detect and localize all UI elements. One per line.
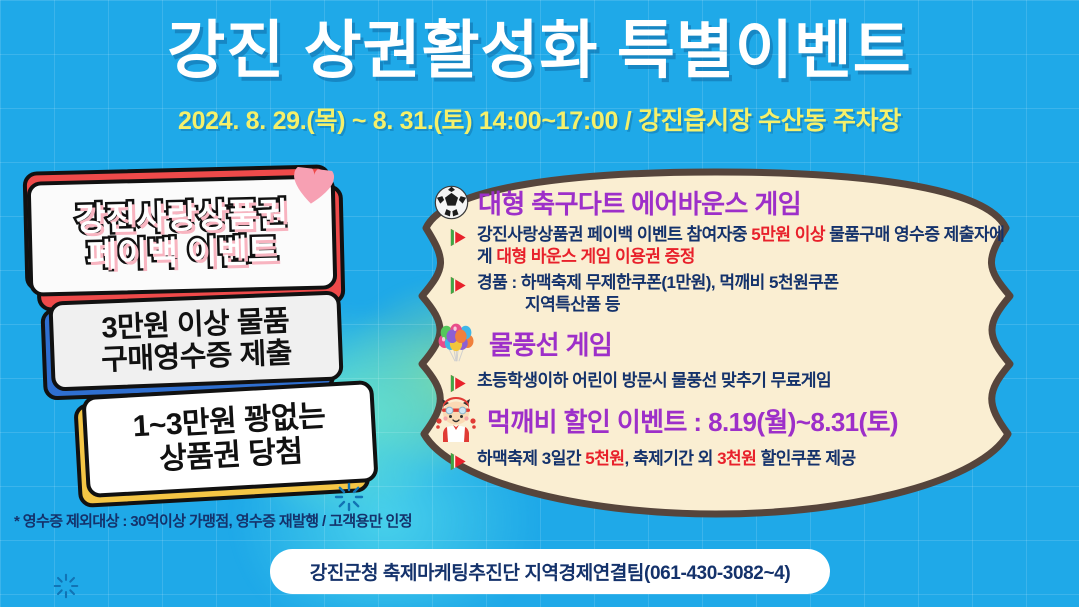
watermelon-bullet-icon <box>448 227 469 248</box>
bullet-item: 초등학생이하 어린이 방문시 물풍선 맞추기 무료게임 <box>448 370 1014 394</box>
bullet-item: 경품 : 하맥축제 무제한쿠폰(1만원), 먹깨비 5천원쿠폰지역특산품 등 <box>448 272 1014 317</box>
section-title: 먹깨비 할인 이벤트 : 8.19(월)~8.31(토) <box>487 402 898 439</box>
balloons-icon <box>434 321 480 367</box>
watermelon-bullet-icon <box>448 451 469 472</box>
sparkle-icon <box>53 573 79 599</box>
payback-event-card: 강진사랑상품권 페이백 이벤트 <box>27 174 338 296</box>
section-title: 물풍선 게임 <box>489 325 612 362</box>
payback-card-line-1: 강진사랑상품권 <box>75 196 288 237</box>
event-details-cloud: 대형 축구다트 에어바운스 게임 강진사랑상품권 페이백 이벤트 참여자중 5만… <box>386 168 1046 518</box>
bullet-text: 경품 : 하맥축제 무제한쿠폰(1만원), 먹깨비 5천원쿠폰지역특산품 등 <box>477 272 839 317</box>
bullet-text: 초등학생이하 어린이 방문시 물풍선 맞추기 무료게임 <box>477 370 831 392</box>
contact-text: 강진군청 축제마케팅추진단 지역경제연결팀(061-430-3082~4) <box>310 558 791 585</box>
page-title: 강진 상권활성화 특별이벤트 <box>0 18 1079 85</box>
section-header-meokkaebi-discount: 먹깨비 할인 이벤트 : 8.19(월)~8.31(토) <box>434 397 1014 445</box>
bullet-item: 강진사랑상품권 페이백 이벤트 참여자중 5만원 이상 물품구매 영수증 제출자… <box>448 224 1014 269</box>
bullet-text: 강진사랑상품권 페이백 이벤트 참여자중 5만원 이상 물품구매 영수증 제출자… <box>477 224 1014 269</box>
payback-card-line-2: 페이백 이벤트 <box>86 232 278 272</box>
prize-card-line-2: 상품권 당첨 <box>158 435 303 477</box>
soccer-ball-icon <box>434 185 469 220</box>
receipt-card-line-2: 구매영수증 제출 <box>101 337 293 377</box>
promo-card-stack: 강진사랑상품권 페이백 이벤트 3만원 이상 물품 구매영수증 제출 1~3만원… <box>0 160 400 505</box>
section-header-water-balloon: 물풍선 게임 <box>434 321 1014 367</box>
cloud-content: 대형 축구다트 에어바운스 게임 강진사랑상품권 페이백 이벤트 참여자중 5만… <box>434 184 1014 504</box>
poster-header: 강진 상권활성화 특별이벤트 2024. 8. 29.(목) ~ 8. 31.(… <box>0 0 1079 137</box>
event-poster: 강진 상권활성화 특별이벤트 2024. 8. 29.(목) ~ 8. 31.(… <box>0 0 1079 607</box>
meokkaebi-mascot-icon <box>434 397 478 445</box>
watermelon-bullet-icon <box>448 373 469 394</box>
receipt-exclusion-footnote: * 영수증 제외대상 : 30억이상 가맹점, 영수증 재발행 / 고객용만 인… <box>14 510 412 531</box>
section-title: 대형 축구다트 에어바운스 게임 <box>478 184 801 221</box>
bullet-text: 하맥축제 3일간 5천원, 축제기간 외 3천원 할인쿠폰 제공 <box>477 448 856 470</box>
watermelon-bullet-icon <box>448 275 469 296</box>
prize-guarantee-card: 1~3만원 꽝없는 상품권 당첨 <box>81 380 378 498</box>
heart-icon <box>291 167 335 207</box>
section-header-soccer-dart-bounce: 대형 축구다트 에어바운스 게임 <box>434 184 1014 221</box>
event-schedule-subtitle: 2024. 8. 29.(목) ~ 8. 31.(토) 14:00~17:00 … <box>0 101 1079 137</box>
bullet-item: 하맥축제 3일간 5천원, 축제기간 외 3천원 할인쿠폰 제공 <box>448 448 1014 472</box>
receipt-requirement-card: 3만원 이상 물품 구매영수증 제출 <box>48 290 343 391</box>
contact-banner: 강진군청 축제마케팅추진단 지역경제연결팀(061-430-3082~4) <box>270 549 830 594</box>
